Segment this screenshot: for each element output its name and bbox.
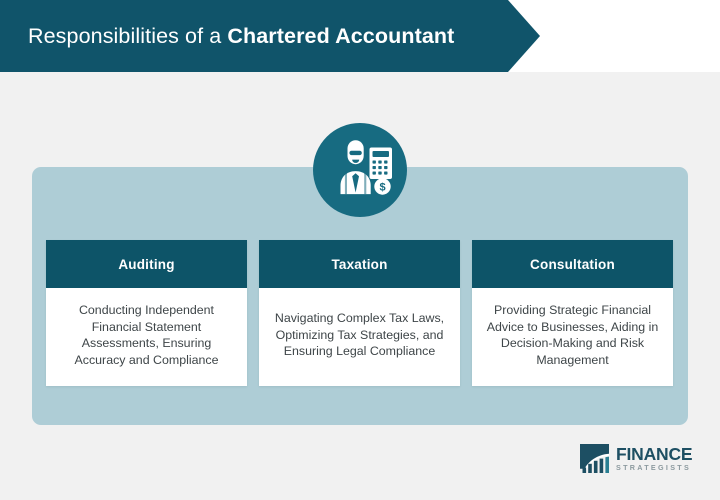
- responsibility-cards: Auditing Conducting Independent Financia…: [46, 240, 674, 386]
- page-title-emphasis: Chartered Accountant: [227, 24, 454, 48]
- svg-text:$: $: [379, 182, 385, 194]
- page-title: Responsibilities of a Chartered Accounta…: [0, 24, 454, 49]
- card-title: Consultation: [472, 240, 673, 288]
- card-title: Taxation: [259, 240, 460, 288]
- header-banner: Responsibilities of a Chartered Accounta…: [0, 0, 540, 72]
- card-body: Providing Strategic Financial Advice to …: [472, 288, 673, 386]
- infographic-canvas: Responsibilities of a Chartered Accounta…: [0, 0, 720, 500]
- logo-wordmark: FINANCE STRATEGISTS: [616, 445, 692, 472]
- card-title: Auditing: [46, 240, 247, 288]
- finance-strategists-logo-icon: [578, 442, 611, 475]
- card-consultation: Consultation Providing Strategic Financi…: [472, 240, 673, 386]
- card-taxation: Taxation Navigating Complex Tax Laws, Op…: [259, 240, 460, 386]
- accountant-with-calculator-icon: $: [313, 123, 407, 217]
- card-body: Conducting Independent Financial Stateme…: [46, 288, 247, 386]
- card-body: Navigating Complex Tax Laws, Optimizing …: [259, 288, 460, 386]
- logo-subtitle: STRATEGISTS: [616, 463, 692, 472]
- card-auditing: Auditing Conducting Independent Financia…: [46, 240, 247, 386]
- page-title-prefix: Responsibilities of a: [28, 24, 227, 48]
- logo-name: FINANCE: [616, 445, 692, 463]
- brand-logo: FINANCE STRATEGISTS: [578, 440, 704, 476]
